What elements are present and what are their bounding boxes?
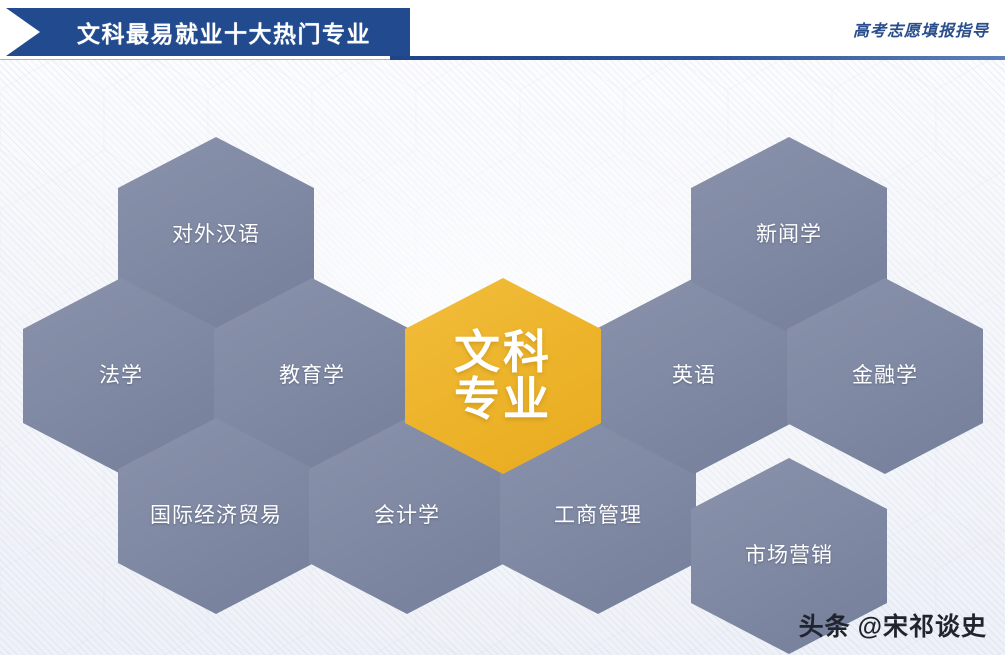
watermark-brand: 头条 <box>799 607 851 643</box>
watermark-handle: @宋祁谈史 <box>858 607 987 643</box>
hex-node-label: 国际经济贸易 <box>150 503 282 529</box>
header: 文科最易就业十大热门专业 高考志愿填报指导 <box>0 0 1005 60</box>
hex-node-label: 英语 <box>672 363 716 389</box>
hex-node-label: 对外汉语 <box>172 222 260 248</box>
hex-node-label: 工商管理 <box>554 503 642 529</box>
hexagon-grid: 对外汉语法学教育学国际经济贸易会计学工商管理英语新闻学金融学市场营销文科 专业 <box>0 60 1005 655</box>
header-accent-rule <box>390 56 1005 60</box>
hex-node-label: 新闻学 <box>756 222 822 248</box>
hex-node-label: 教育学 <box>279 363 345 389</box>
hex-node-label: 金融学 <box>852 363 918 389</box>
diagram-canvas: 对外汉语法学教育学国际经济贸易会计学工商管理英语新闻学金融学市场营销文科 专业 … <box>0 60 1005 655</box>
center-node-label: 文科 专业 <box>454 329 552 423</box>
slide-root: 文科最易就业十大热门专业 高考志愿填报指导 对外汉语法学教育学国际经济贸易会计学… <box>0 0 1005 655</box>
page-title: 文科最易就业十大热门专业 <box>38 8 410 56</box>
watermark: 头条 @宋祁谈史 <box>799 607 987 643</box>
hex-node-label: 市场营销 <box>745 543 833 569</box>
header-subtitle: 高考志愿填报指导 <box>853 17 989 41</box>
hex-node-label: 会计学 <box>374 503 440 529</box>
hex-node-label: 法学 <box>99 363 143 389</box>
